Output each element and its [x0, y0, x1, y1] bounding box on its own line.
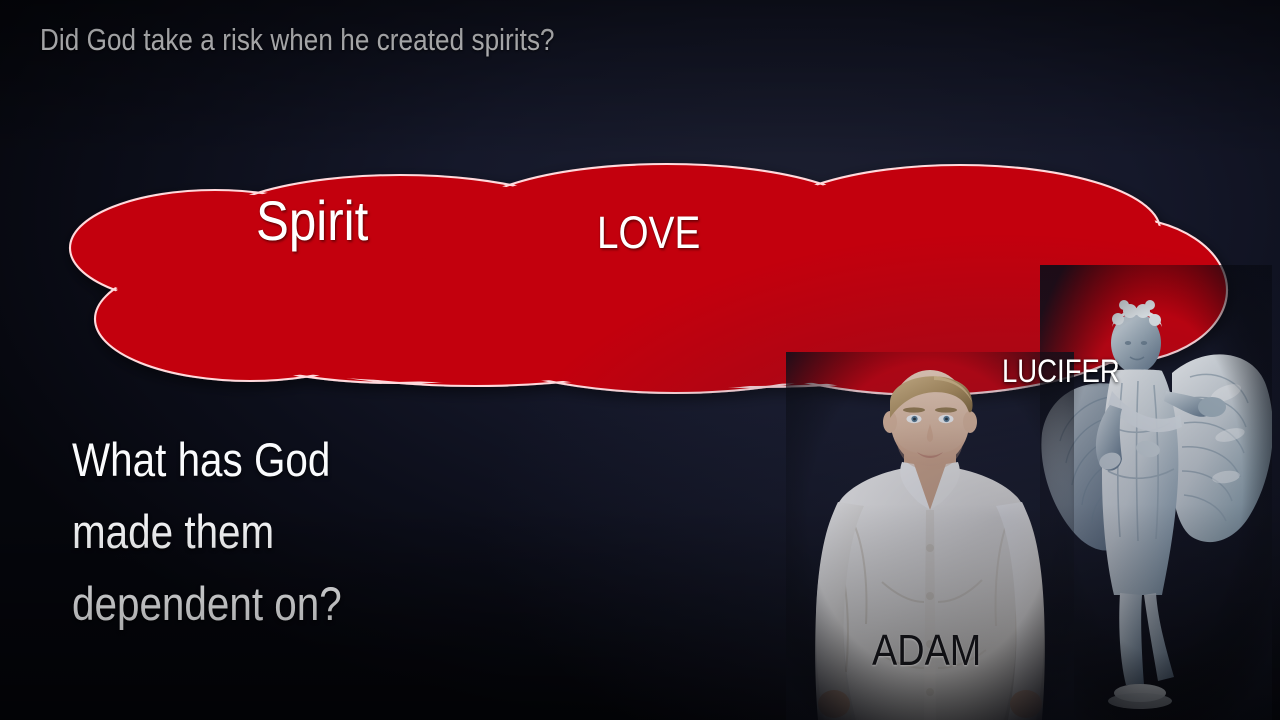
page-title: Did God take a risk when he created spir… — [40, 22, 555, 58]
figure-caption-adam: ADAM — [872, 626, 981, 676]
question-text: What has God made them dependent on? — [72, 424, 342, 640]
cloud-label-spirit: Spirit — [256, 188, 368, 253]
presentation-slide: Spirit LOVE — [0, 0, 1280, 720]
angel-statue-image — [1040, 265, 1272, 720]
figure-lucifer — [1040, 265, 1272, 720]
figure-caption-lucifer: LUCIFER — [1002, 353, 1120, 390]
cloud-label-love: LOVE — [597, 207, 700, 259]
